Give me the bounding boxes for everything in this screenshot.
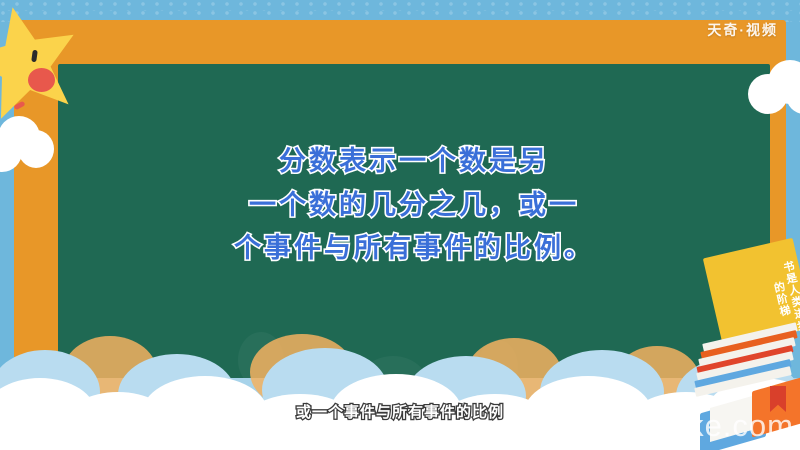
subtitle-caption: 或一个事件与所有事件的比例 xyxy=(0,401,800,422)
blackboard-text: 分数表示一个数是另 一个数的几分之几，或一 个事件与所有事件的比例。 xyxy=(58,140,770,271)
blackboard: 分数表示一个数是另 一个数的几分之几，或一 个事件与所有事件的比例。 xyxy=(58,64,770,394)
cloud-right xyxy=(748,60,800,118)
star-mascot-icon xyxy=(0,6,78,116)
video-frame: 分数表示一个数是另 一个数的几分之几，或一 个事件与所有事件的比例。 xyxy=(0,0,800,450)
star-cheek xyxy=(28,68,55,92)
cloud-puff xyxy=(18,130,54,168)
channel-watermark: 天奇·视频 xyxy=(707,20,778,40)
sky-dot-pattern xyxy=(0,0,800,22)
cloud-left xyxy=(0,116,54,174)
